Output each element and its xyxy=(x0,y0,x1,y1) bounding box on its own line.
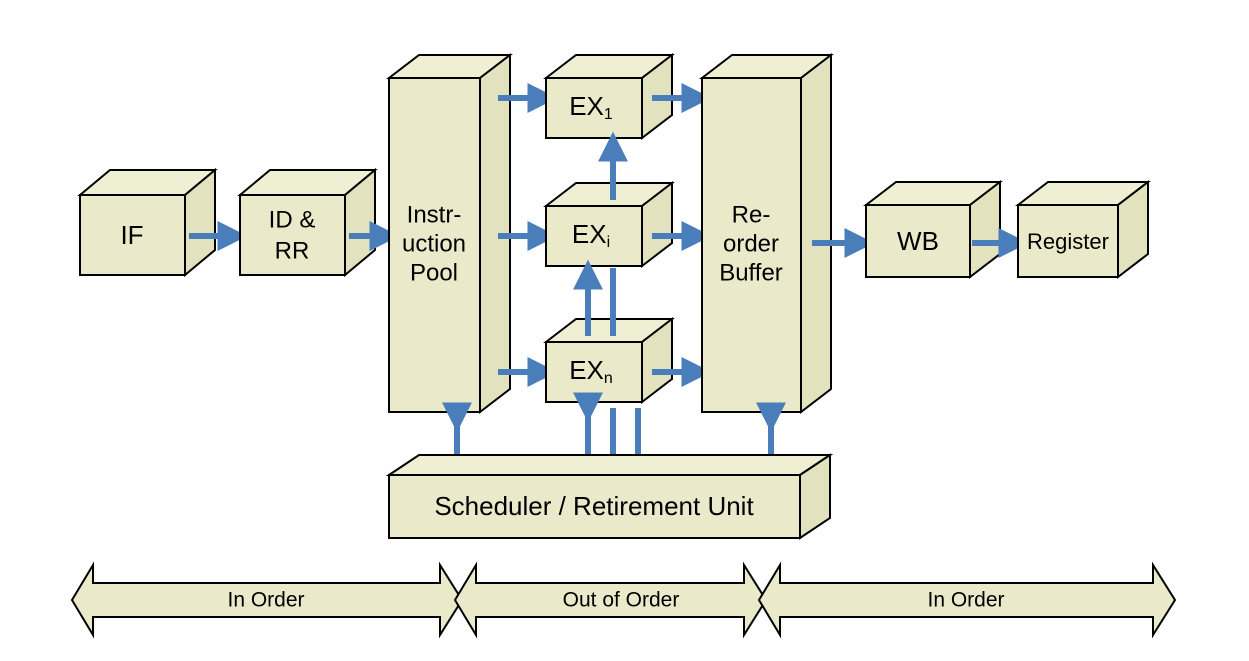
block-wb: WB xyxy=(866,182,1000,277)
if-label: IF xyxy=(120,220,143,250)
block-instruction-pool: Instr- uction Pool xyxy=(389,55,510,412)
id-rr-label-line2: RR xyxy=(275,237,310,264)
block-exi: EXi xyxy=(546,183,672,266)
rob-label-line3: Buffer xyxy=(719,259,783,286)
order-band: In Order Out of Order In Order xyxy=(72,565,1175,635)
order-band-label-1: In Order xyxy=(227,589,304,612)
block-scheduler: Scheduler / Retirement Unit xyxy=(389,455,830,538)
rob-label-line1: Re- xyxy=(732,201,771,228)
block-id-rr: ID & RR xyxy=(240,170,375,275)
diagram-canvas: IF ID & RR Instr- uction Pool EX1 xyxy=(0,0,1249,661)
block-if: IF xyxy=(80,170,215,275)
order-band-label-3: In Order xyxy=(927,589,1004,612)
rob-label-line2: order xyxy=(723,230,779,257)
pool-label-line2: uction xyxy=(402,230,466,257)
scheduler-label: Scheduler / Retirement Unit xyxy=(434,491,754,521)
block-reorder-buffer: Re- order Buffer xyxy=(702,55,831,412)
pipeline-diagram-svg: IF ID & RR Instr- uction Pool EX1 xyxy=(0,0,1249,661)
block-exn: EXn xyxy=(546,319,672,402)
order-band-label-2: Out of Order xyxy=(563,589,680,612)
pool-label-line1: Instr- xyxy=(407,201,462,228)
register-label: Register xyxy=(1027,229,1109,254)
id-rr-label-line1: ID & xyxy=(269,206,316,233)
wb-label: WB xyxy=(897,226,939,256)
exi-label: EXi xyxy=(572,219,610,251)
block-register: Register xyxy=(1018,182,1148,277)
pool-label-line3: Pool xyxy=(410,259,458,286)
